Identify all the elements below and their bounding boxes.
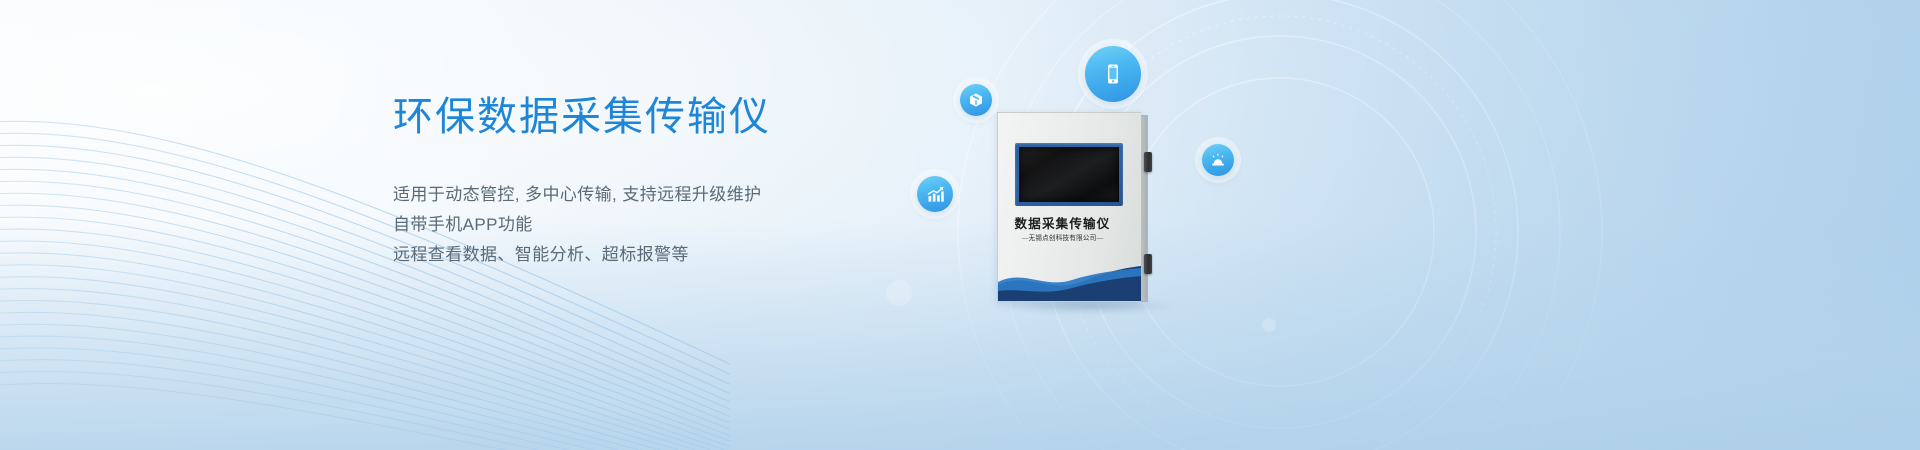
alarm-siren-icon: [1210, 152, 1226, 168]
bar-chart-growth-icon: [926, 185, 945, 204]
device-latch-top: [1144, 152, 1152, 172]
badge-bar-chart[interactable]: [917, 176, 953, 212]
device-label: 数据采集传输仪: [998, 213, 1127, 232]
bokeh-dot: [886, 280, 912, 306]
bokeh-dot: [1262, 318, 1276, 332]
badge-mobile-phone[interactable]: [1085, 46, 1141, 102]
mobile-phone-icon: [1101, 62, 1125, 86]
product-device: 数据采集传输仪 —无锡点创科技有限公司—: [997, 112, 1187, 312]
device-base-graphic: [998, 255, 1141, 301]
device-company-label: —无锡点创科技有限公司—: [998, 232, 1127, 242]
product-banner: 环保数据采集传输仪 适用于动态管控, 多中心传输, 支持远程升级维护 自带手机A…: [0, 0, 1920, 450]
feature-item-2: 自带手机APP功能: [393, 210, 1013, 240]
badge-alarm-siren[interactable]: [1202, 144, 1234, 176]
badge-package-cube[interactable]: [960, 84, 992, 116]
device-screen: [1019, 147, 1119, 202]
page-title: 环保数据采集传输仪: [393, 92, 1013, 142]
feature-item-3: 远程查看数据、智能分析、超标报警等: [393, 240, 1013, 270]
package-cube-icon: [968, 92, 984, 108]
device-latch-bottom: [1144, 254, 1152, 274]
device-body: 数据采集传输仪 —无锡点创科技有限公司—: [997, 112, 1141, 302]
device-screen-bezel: [1015, 143, 1123, 206]
banner-copy: 环保数据采集传输仪 适用于动态管控, 多中心传输, 支持远程升级维护 自带手机A…: [393, 92, 1013, 270]
